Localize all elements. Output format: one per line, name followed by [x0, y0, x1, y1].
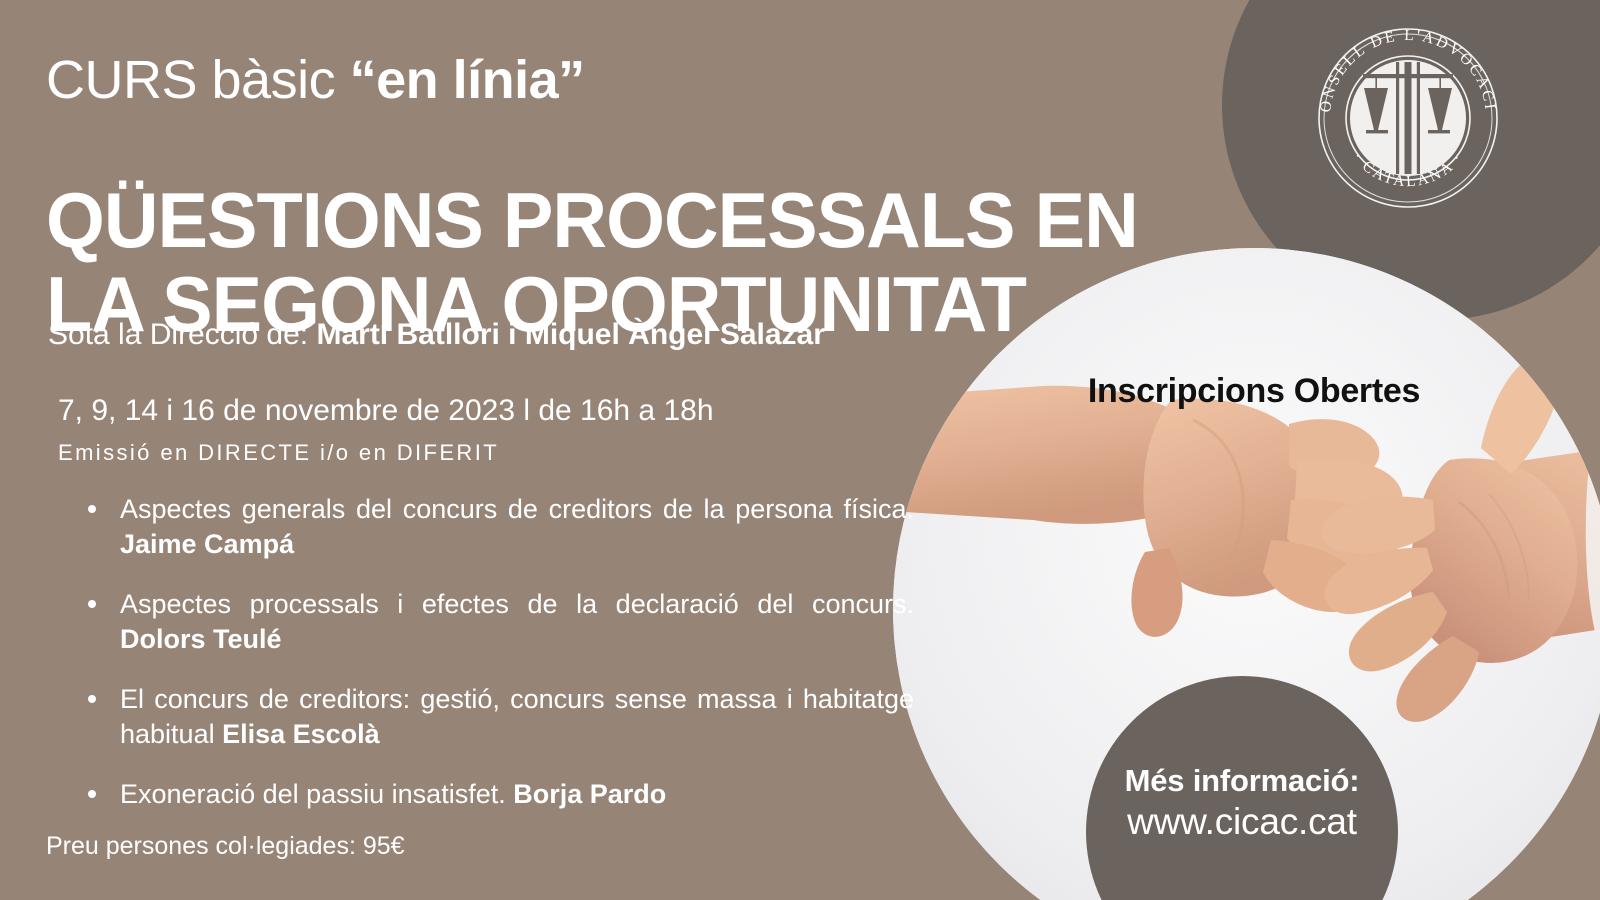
headline-line-1: QÜESTIONS PROCESSALS EN	[46, 178, 1191, 262]
list-item: El concurs de creditors: gestió, concurs…	[74, 682, 914, 751]
list-item: Exoneració del passiu insatisfet. Borja …	[74, 777, 914, 812]
list-item: Aspectes generals del concurs de credito…	[74, 492, 914, 561]
course-kicker: CURS bàsic “en línia”	[46, 52, 585, 109]
bullet-icon	[88, 505, 96, 513]
cicac-seal-logo: CONSELL DE L'ADVOCACIA · CATALANA ·	[1308, 18, 1508, 218]
topic-text: Aspectes processals i efectes de la decl…	[120, 589, 914, 619]
topic-speaker: Borja Pardo	[513, 779, 666, 809]
kicker-plain: CURS bàsic	[46, 50, 350, 110]
bullet-icon	[88, 600, 96, 608]
director-line: Sota la Direcció de: Martí Batllori i Mi…	[48, 318, 825, 352]
topic-text: Exoneració del passiu insatisfet.	[120, 779, 513, 809]
topic-speaker: Jaime Campá	[120, 529, 294, 559]
topics-list: Aspectes generals del concurs de credito…	[74, 492, 914, 812]
broadcast-mode: Emissió en DIRECTE i/o en DIFERIT	[58, 440, 499, 466]
topic-speaker: Dolors Teulé	[120, 624, 282, 654]
director-label: Sota la Direcció de:	[48, 318, 316, 351]
poster-canvas: CONSELL DE L'ADVOCACIA · CATALANA ·	[0, 0, 1600, 900]
main-content: CURS bàsic “en línia” QÜESTIONS PROCESSA…	[46, 0, 1186, 900]
bullet-icon	[88, 695, 96, 703]
topic-speaker: Elisa Escolà	[222, 719, 380, 749]
bullet-icon	[88, 790, 96, 798]
director-names: Martí Batllori i Miquel Àngel Salazar	[316, 318, 824, 351]
kicker-strong: “en línia”	[350, 50, 585, 110]
schedule-dates: 7, 9, 14 i 16 de novembre de 2023 l de 1…	[58, 394, 714, 428]
price-line: Preu persones col·legiades: 95€	[46, 832, 405, 861]
list-item: Aspectes processals i efectes de la decl…	[74, 587, 914, 656]
topic-text: Aspectes generals del concurs de credito…	[120, 494, 914, 524]
